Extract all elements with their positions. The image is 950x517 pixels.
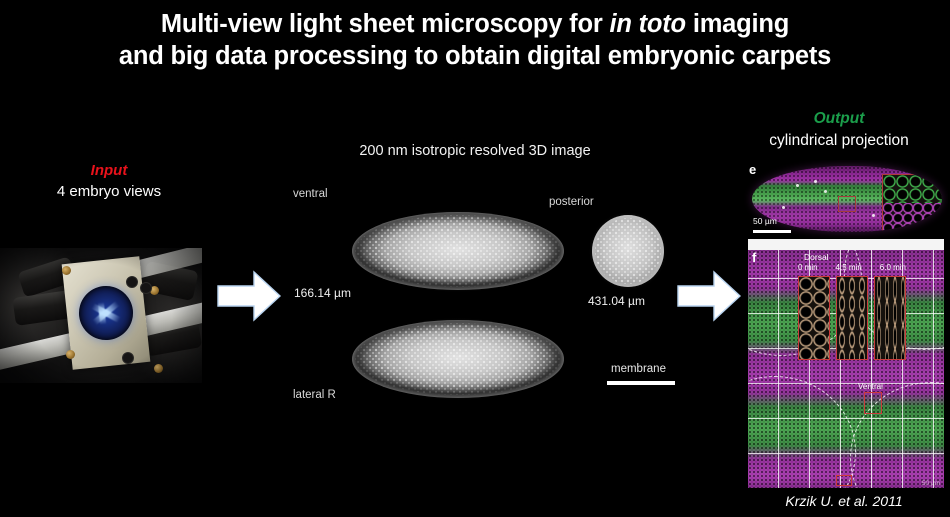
view-label-posterior: posterior	[549, 196, 594, 208]
embryo-view-lateral-r	[352, 320, 564, 398]
magnified-inset	[882, 174, 942, 232]
region-label-ventral: Ventral	[858, 382, 883, 391]
title-line-1-part-b: imaging	[686, 10, 789, 38]
embryo-view-posterior	[592, 215, 664, 287]
bright-speck	[824, 190, 827, 193]
timepoint-label-2: 6.0 min	[880, 263, 906, 272]
light-sheet-microscope-photo	[0, 248, 202, 383]
center-section-caption: 200 nm isotropic resolved 3D image	[290, 143, 660, 159]
page-title: Multi-view light sheet microscopy for in…	[0, 8, 950, 72]
panel-f-scale-label: 50 µm	[922, 480, 940, 487]
title-line-1-part-a: Multi-view light sheet microscopy for	[161, 10, 610, 38]
panel-divider	[748, 239, 944, 250]
timepoint-inset-0	[798, 276, 830, 360]
membrane-scale-bar	[607, 381, 675, 385]
figure-panel-e: e 50 µm	[744, 160, 948, 238]
cylindrical-projection-figure: e 50 µm f Dorsal 0 min 4.5 min 6.0 min V…	[744, 160, 948, 490]
bright-speck	[814, 180, 817, 183]
panel-letter-f: f	[752, 250, 756, 265]
inset-cells-green	[883, 175, 942, 203]
roi-outline-bottom	[836, 475, 852, 486]
figure-panel-f: f Dorsal 0 min 4.5 min 6.0 min Ventral 5…	[748, 250, 944, 488]
panel-e-scale-bar	[753, 230, 791, 233]
region-label-dorsal: Dorsal	[804, 252, 829, 262]
output-description: cylindrical projection	[730, 130, 948, 152]
bright-speck	[872, 214, 875, 217]
timepoint-label-0: 0 min	[798, 263, 818, 272]
channel-label-membrane: membrane	[611, 363, 666, 375]
cell-membrane-mesh	[837, 277, 867, 359]
output-accent-label: Output	[730, 108, 948, 130]
dimension-label-vertical: 166.14 µm	[294, 286, 351, 300]
photo-vignette	[0, 248, 202, 383]
embryo-rim-highlight	[592, 215, 664, 287]
embryo-rim-highlight	[352, 320, 564, 398]
timepoint-inset-1	[836, 276, 868, 360]
embryo-view-ventral	[352, 212, 564, 290]
output-section-header: Output cylindrical projection	[730, 108, 948, 152]
right-arrow-icon	[676, 268, 742, 324]
cell-membrane-mesh	[799, 277, 829, 359]
title-line-1: Multi-view light sheet microscopy for in…	[0, 8, 950, 40]
panel-e-scale-label: 50 µm	[753, 216, 777, 226]
input-accent-label: Input	[14, 160, 204, 181]
inset-cells-magenta	[883, 203, 942, 231]
input-description: 4 embryo views	[14, 181, 204, 202]
embryo-rim-highlight	[352, 212, 564, 290]
view-label-ventral: ventral	[293, 188, 328, 200]
title-line-2: and big data processing to obtain digita…	[0, 40, 950, 72]
input-section-header: Input 4 embryo views	[14, 160, 204, 202]
roi-outline-source	[838, 196, 856, 212]
right-arrow-icon	[216, 268, 282, 324]
presentation-slide: Multi-view light sheet microscopy for in…	[0, 0, 950, 517]
roi-outline-ventral	[864, 392, 882, 414]
panel-letter-e: e	[749, 162, 756, 177]
timepoint-label-1: 4.5 min	[836, 263, 862, 272]
citation-text: Krzik U. et al. 2011	[740, 493, 948, 509]
title-line-1-italic: in toto	[609, 10, 685, 38]
bright-speck	[796, 184, 799, 187]
cell-membrane-mesh	[875, 277, 905, 359]
timepoint-inset-2	[874, 276, 906, 360]
bright-speck	[782, 206, 785, 209]
timepoint-labels: 0 min 4.5 min 6.0 min	[798, 263, 906, 272]
view-label-lateral-r: lateral R	[293, 389, 336, 401]
embryo-3d-render	[752, 166, 942, 232]
